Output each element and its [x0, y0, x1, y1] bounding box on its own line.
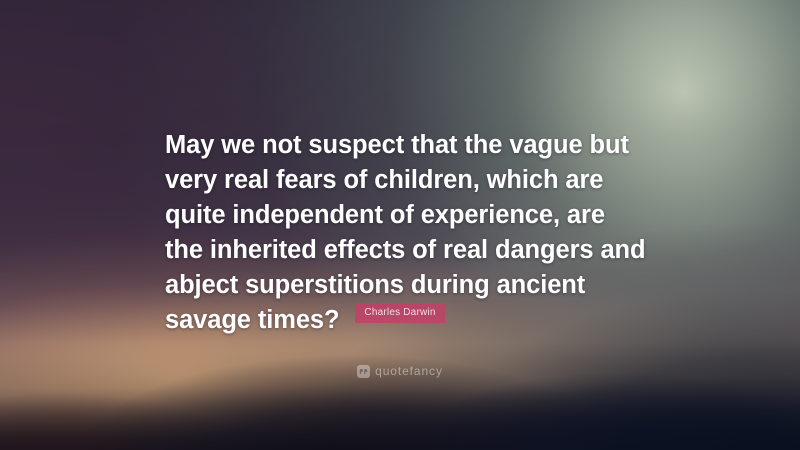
card-content: May we not suspect that the vague but ve…: [0, 0, 800, 450]
quote-mark-icon: [357, 365, 370, 378]
author-badge[interactable]: Charles Darwin: [355, 304, 444, 323]
watermark-label: quotefancy: [375, 365, 443, 378]
quote-card: May we not suspect that the vague but ve…: [0, 0, 800, 450]
attribution-container: Charles Darwin: [0, 304, 800, 323]
watermark[interactable]: quotefancy: [0, 365, 800, 378]
